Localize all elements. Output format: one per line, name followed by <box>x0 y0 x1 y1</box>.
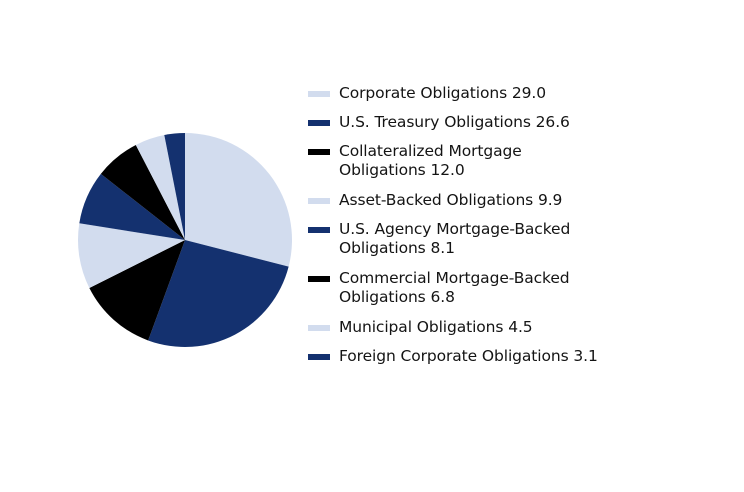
legend-entry[interactable]: U.S. Treasury Obligations 26.6 <box>308 113 708 132</box>
legend-swatch-corporate-obligations <box>308 91 330 97</box>
legend-swatch-us-agency-mortgage-backed-obligations <box>308 227 330 233</box>
legend-swatch-cell <box>308 220 339 233</box>
pie-chart-figure: Corporate Obligations 29.0U.S. Treasury … <box>0 0 744 492</box>
legend-swatch-cell <box>308 84 339 97</box>
legend-entry[interactable]: Asset-Backed Obligations 9.9 <box>308 191 708 210</box>
legend-entry[interactable]: Commercial Mortgage-Backed Obligations 6… <box>308 269 708 307</box>
legend-swatch-cell <box>308 113 339 126</box>
legend-swatch-cell <box>308 191 339 204</box>
legend-entry-label: Collateralized Mortgage Obligations 12.0 <box>339 142 708 180</box>
legend-entry-label: Foreign Corporate Obligations 3.1 <box>339 347 708 366</box>
legend-entry-label: U.S. Agency Mortgage-Backed Obligations … <box>339 220 708 258</box>
legend-swatch-municipal-obligations <box>308 325 330 331</box>
legend-swatch-foreign-corporate-obligations <box>308 354 330 360</box>
legend-swatch-commercial-mortgage-backed-obligations <box>308 276 330 282</box>
pie-slice-group <box>78 133 292 347</box>
legend-entry-label: Commercial Mortgage-Backed Obligations 6… <box>339 269 708 307</box>
legend-entry[interactable]: Collateralized Mortgage Obligations 12.0 <box>308 142 708 180</box>
legend-entry[interactable]: U.S. Agency Mortgage-Backed Obligations … <box>308 220 708 258</box>
pie-chart-plot-area <box>78 133 292 347</box>
legend-entry[interactable]: Foreign Corporate Obligations 3.1 <box>308 347 708 366</box>
legend-entry[interactable]: Municipal Obligations 4.5 <box>308 318 708 337</box>
legend-entry-label: Corporate Obligations 29.0 <box>339 84 708 103</box>
legend-swatch-us-treasury-obligations <box>308 120 330 126</box>
legend-swatch-collateralized-mortgage-obligations <box>308 149 330 155</box>
legend-swatch-cell <box>308 318 339 331</box>
legend-swatch-cell <box>308 142 339 155</box>
legend-entry-label: Asset-Backed Obligations 9.9 <box>339 191 708 210</box>
legend-swatch-cell <box>308 347 339 360</box>
legend-entry-label: U.S. Treasury Obligations 26.6 <box>339 113 708 132</box>
legend-entry-label: Municipal Obligations 4.5 <box>339 318 708 337</box>
chart-legend: Corporate Obligations 29.0U.S. Treasury … <box>308 84 708 376</box>
pie-chart-svg <box>78 133 292 347</box>
legend-entry[interactable]: Corporate Obligations 29.0 <box>308 84 708 103</box>
legend-swatch-cell <box>308 269 339 282</box>
legend-swatch-asset-backed-obligations <box>308 198 330 204</box>
